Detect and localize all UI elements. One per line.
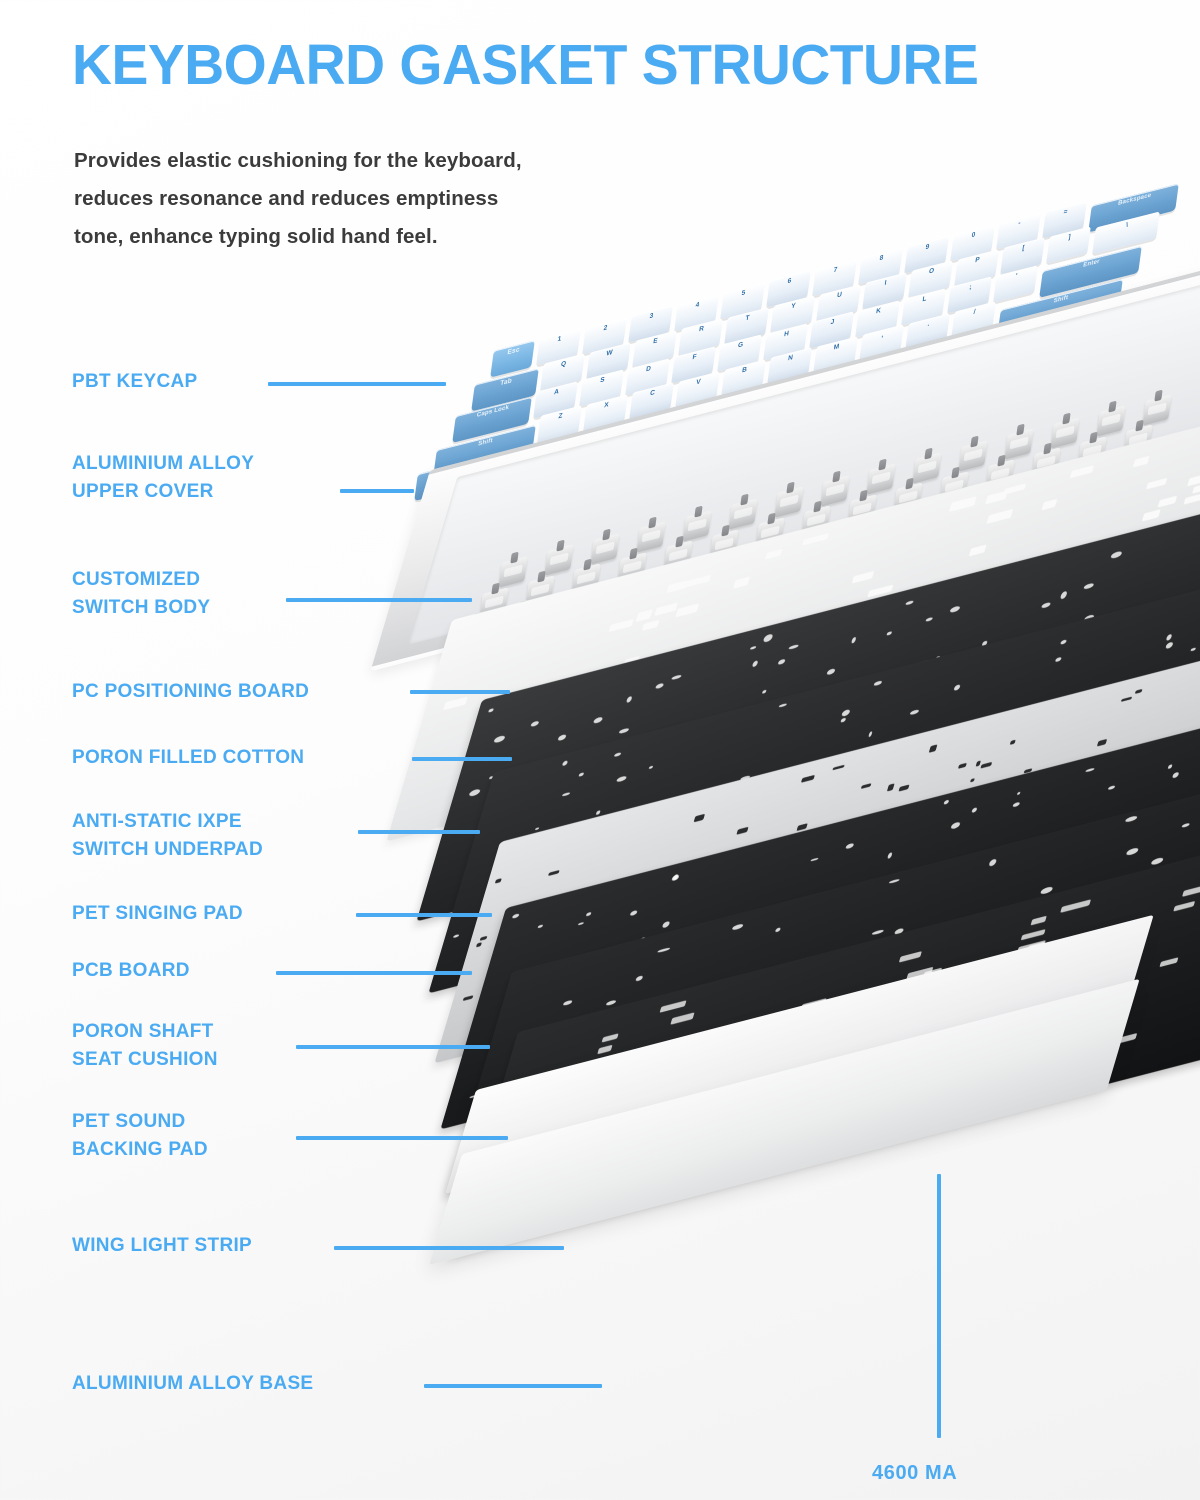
- callout-label-aluminium-alloy-upper-cover: ALUMINIUM ALLOY UPPER COVER: [72, 450, 254, 506]
- plate-cutout: [1143, 886, 1149, 892]
- plate-cutout: [685, 575, 712, 588]
- plate-cutout: [696, 819, 704, 828]
- switch-body: [744, 597, 773, 628]
- plate-cutout: [544, 942, 549, 949]
- plate-cutout: [530, 720, 539, 727]
- plate-cutout: [637, 917, 644, 922]
- keycap-1: 1: [536, 329, 581, 366]
- plate-cutout: [873, 681, 881, 687]
- plate-cutout: [1060, 639, 1068, 645]
- switch-body: [690, 559, 719, 590]
- plate-cutout: [1184, 933, 1191, 940]
- plate-cutout: [469, 788, 481, 797]
- plate-cutout: [906, 967, 934, 981]
- plate-cutout: [1137, 816, 1148, 823]
- leader-line-pet-sound-backing-pad: [296, 1136, 508, 1140]
- plate-cutout: [1192, 482, 1200, 493]
- keycap--: ,: [859, 325, 904, 362]
- keycap-z: Z: [537, 406, 582, 443]
- leader-line-pet-singing-pad: [356, 913, 492, 917]
- plate-cutout: [1168, 764, 1173, 769]
- plate-cutout: [786, 1049, 809, 1061]
- plate-cutout: [504, 949, 510, 954]
- keycap-win: Win: [472, 446, 528, 486]
- plate-cutout: [989, 858, 998, 866]
- plate-cutout: [851, 637, 857, 644]
- plate-cutout: [1188, 711, 1193, 718]
- plate-cutout: [766, 955, 774, 959]
- plate-cutout: [623, 1064, 636, 1072]
- switch-body: [893, 482, 922, 513]
- switch-body: [928, 551, 957, 582]
- plate-cutout: [597, 824, 602, 830]
- plate-cutout: [602, 813, 614, 821]
- keycap-n: N: [767, 348, 812, 385]
- keycap-esc: Esc: [490, 340, 535, 377]
- plate-cutout: [507, 832, 513, 837]
- plate-cutout: [954, 684, 961, 691]
- plate-cutout: [489, 708, 495, 712]
- plate-cutout: [852, 613, 870, 624]
- keycap-o: O: [908, 261, 953, 298]
- plate-cutout: [884, 786, 891, 793]
- plate-cutout: [534, 827, 539, 830]
- plate-cutout: [564, 906, 573, 912]
- plate-cutout: [1041, 499, 1058, 511]
- layer-customized-switch-body: [470, 500, 1200, 830]
- plate-cutout: [584, 1121, 603, 1131]
- battery-capacity-label: 4600 MA: [872, 1462, 957, 1485]
- plate-cutout: [740, 1005, 755, 1015]
- plate-cutout: [718, 818, 728, 825]
- plate-cutout: [982, 640, 988, 646]
- switch-body: [1050, 417, 1079, 448]
- plate-cutout: [1043, 919, 1056, 925]
- plate-cutout: [523, 972, 531, 978]
- plate-cutout: [1102, 1003, 1120, 1014]
- plate-cutout: [1102, 635, 1124, 648]
- plate-cutout: [1121, 696, 1133, 702]
- plate-cutout: [1079, 697, 1086, 704]
- callout-label-pet-sound-backing-pad: PET SOUND BACKING PAD: [72, 1108, 208, 1164]
- plate-cutout: [701, 791, 708, 796]
- keycap-tab: Tab: [471, 368, 539, 411]
- plate-cutout: [517, 990, 525, 997]
- switch-body: [1020, 527, 1049, 558]
- plate-cutout: [893, 746, 898, 753]
- plate-cutout: [731, 923, 744, 931]
- plate-cutout: [589, 1021, 596, 1025]
- keycap-w: W: [586, 342, 631, 379]
- switch-body: [958, 440, 987, 471]
- plate-cutout: [649, 947, 658, 954]
- keycap-3: 3: [628, 306, 673, 343]
- plate-cutout: [1096, 776, 1104, 783]
- plate-cutout: [1065, 992, 1081, 1001]
- plate-cutout: [1110, 551, 1122, 559]
- plate-cutout: [1149, 952, 1161, 960]
- plate-cutout: [622, 893, 631, 899]
- plate-cutout: [775, 1001, 785, 1008]
- plate-cutout: [927, 988, 932, 993]
- plate-cutout: [601, 1033, 619, 1043]
- switch-body: [912, 452, 941, 483]
- switch-body: [985, 459, 1014, 490]
- plate-cutout: [1054, 900, 1063, 906]
- plate-cutout: [1084, 614, 1095, 622]
- switch-body: [1085, 485, 1114, 516]
- switch-body: [774, 487, 803, 518]
- plate-cutout: [1159, 672, 1164, 676]
- keycap--: =: [1042, 201, 1087, 238]
- plate-cutout: [1013, 802, 1021, 808]
- keycap-8: 8: [858, 248, 903, 285]
- plate-cutout: [971, 807, 978, 813]
- plate-cutout: [1184, 492, 1200, 504]
- switch-body: [663, 540, 692, 571]
- plate-cutout: [610, 663, 636, 677]
- plate-cutout: [508, 974, 519, 981]
- switch-body: [1123, 424, 1152, 455]
- plate-cutout: [1039, 861, 1045, 868]
- plate-cutout: [491, 926, 497, 930]
- keycap-f: F: [671, 346, 716, 383]
- keycap-p: P: [954, 249, 999, 286]
- plate-cutout: [1006, 754, 1015, 760]
- plate-cutout: [443, 696, 468, 710]
- leader-line-poron-shaft-seat-cushion: [296, 1045, 490, 1049]
- plate-cutout: [748, 780, 754, 786]
- keycap-fn: Fn: [932, 330, 988, 370]
- switch-body: [506, 606, 535, 637]
- keycap--: [: [1000, 237, 1045, 274]
- keycap-c: C: [629, 383, 674, 420]
- plate-cutout: [578, 922, 584, 926]
- plate-cutout: [857, 683, 884, 698]
- plate-cutout: [567, 845, 572, 848]
- plate-cutout: [677, 718, 699, 731]
- switch-body: [682, 510, 711, 541]
- switch-body: [652, 620, 681, 651]
- keycap-alt: Alt: [874, 345, 930, 385]
- plate-cutout: [983, 688, 993, 694]
- keycap-backspace: Backspace: [1088, 184, 1179, 233]
- plate-cutout: [910, 709, 920, 716]
- plate-cutout: [755, 859, 764, 866]
- keycap-k: K: [855, 300, 900, 337]
- plate-cutout: [1016, 791, 1020, 795]
- plate-cutout: [558, 931, 564, 937]
- plate-cutout: [958, 763, 968, 770]
- plate-cutout: [1034, 707, 1046, 715]
- callout-label-customized-switch-body: CUSTOMIZED SWITCH BODY: [72, 566, 210, 622]
- plate-cutout: [825, 1033, 854, 1046]
- plate-cutout: [714, 882, 721, 887]
- leader-line-pc-positioning-board: [410, 690, 510, 694]
- leader-line-anti-static-ixpe-switch-underpad: [358, 830, 480, 834]
- plate-cutout: [499, 866, 506, 872]
- plate-cutout: [496, 1196, 524, 1208]
- plate-cutout: [718, 979, 728, 986]
- plate-cutout: [1174, 589, 1200, 601]
- plate-cutout: [1167, 885, 1178, 893]
- plate-cutout: [520, 987, 529, 992]
- plate-cutout: [651, 1126, 680, 1139]
- plate-cutout: [920, 951, 930, 957]
- keycap--: .: [905, 313, 950, 350]
- plate-cutout: [1149, 679, 1154, 685]
- plate-cutout: [1189, 818, 1200, 824]
- plate-cutout: [719, 928, 725, 934]
- callout-label-pcb-board: PCB BOARD: [72, 957, 190, 985]
- plate-cutout: [1132, 456, 1149, 468]
- plate-cutout: [1024, 768, 1032, 773]
- callout-label-anti-static-ixpe-switch-underpad: ANTI-STATIC IXPE SWITCH UNDERPAD: [72, 808, 263, 864]
- plate-cutout: [494, 1046, 503, 1054]
- switch-body: [717, 578, 746, 609]
- plate-cutout: [1067, 600, 1084, 610]
- keycap-y: Y: [770, 295, 815, 332]
- switch-body: [671, 590, 700, 621]
- plate-cutout: [1029, 1018, 1055, 1030]
- keycap-x: X: [583, 394, 628, 431]
- plate-cutout: [1003, 720, 1011, 728]
- plate-cutout: [576, 1104, 589, 1113]
- plate-cutout: [963, 925, 973, 933]
- plate-cutout: [792, 997, 800, 1002]
- plate-cutout: [1141, 693, 1149, 700]
- plate-cutout: [657, 1108, 669, 1115]
- plate-cutout: [546, 845, 552, 848]
- plate-cutout: [636, 609, 653, 622]
- plate-cutout: [1003, 483, 1027, 495]
- plate-cutout: [985, 491, 1008, 505]
- layer-aluminium-alloy-base: [476, 1090, 1176, 1350]
- plate-cutout: [908, 752, 915, 760]
- plate-cutout: [740, 963, 749, 969]
- plate-cutout: [593, 894, 598, 897]
- plate-cutout: [1093, 779, 1105, 786]
- callout-label-pc-positioning-board: PC POSITIONING BOARD: [72, 678, 309, 706]
- keycap-j: J: [809, 311, 854, 348]
- plate-cutout: [479, 936, 487, 942]
- plate-cutout: [1092, 717, 1100, 724]
- keycap-g: G: [717, 335, 762, 372]
- plate-cutout: [1055, 657, 1062, 663]
- plate-cutout: [925, 617, 933, 622]
- plate-cutout: [623, 655, 639, 666]
- keycap-b: B: [721, 359, 766, 396]
- plate-cutout: [774, 927, 781, 933]
- switch-body: [901, 532, 930, 563]
- plate-cutout: [1111, 542, 1130, 555]
- plate-cutout: [986, 570, 1006, 582]
- plate-cutout: [1193, 605, 1200, 619]
- plate-cutout: [558, 734, 567, 741]
- plate-cutout: [1042, 866, 1050, 872]
- plate-cutout: [833, 764, 845, 770]
- plate-cutout: [493, 735, 505, 743]
- plate-cutout: [1106, 689, 1117, 698]
- plate-cutout: [1041, 602, 1051, 609]
- plate-cutout: [609, 619, 634, 632]
- plate-cutout: [562, 760, 569, 766]
- plate-cutout: [1018, 923, 1027, 930]
- callout-label-poron-filled-cotton: PORON FILLED COTTON: [72, 744, 304, 772]
- plate-cutout: [538, 924, 544, 928]
- plate-cutout: [943, 660, 962, 672]
- leader-line-aluminium-alloy-upper-cover: [340, 489, 414, 493]
- switch-body: [736, 548, 765, 579]
- plate-cutout: [642, 841, 646, 846]
- leader-line-customized-switch-body: [286, 598, 472, 602]
- plate-cutout: [549, 1185, 579, 1197]
- plate-cutout: [779, 703, 787, 707]
- plate-cutout: [561, 1006, 570, 1014]
- plate-cutout: [898, 784, 909, 791]
- plate-cutout: [767, 1009, 774, 1013]
- plate-cutout: [506, 763, 526, 776]
- switch-body: [728, 498, 757, 529]
- plate-cutout: [721, 866, 729, 874]
- plate-cutout: [999, 962, 1019, 972]
- plate-cutout: [512, 920, 525, 927]
- plate-cutout: [596, 810, 601, 815]
- plate-cutout: [1107, 805, 1114, 811]
- page-subtitle: Provides elastic cushioning for the keyb…: [74, 142, 544, 256]
- plate-cutout: [1161, 678, 1169, 687]
- plate-cutout: [661, 921, 670, 929]
- plate-cutout: [770, 1115, 801, 1129]
- keycap-v: V: [675, 371, 720, 408]
- plate-cutout: [712, 1029, 720, 1035]
- leader-line-poron-filled-cotton: [412, 757, 512, 761]
- plate-cutout: [783, 982, 791, 989]
- plate-cutout: [757, 1043, 787, 1055]
- plate-cutout: [1186, 617, 1196, 624]
- plate-cutout: [843, 990, 851, 997]
- plate-cutout: [797, 1077, 808, 1085]
- plate-cutout: [668, 1048, 674, 1052]
- leader-line-aluminium-alloy-base: [424, 1384, 602, 1388]
- plate-cutout: [887, 784, 895, 792]
- plate-cutout: [940, 692, 950, 701]
- plate-cutout: [1167, 770, 1172, 775]
- plate-cutout: [896, 781, 906, 787]
- plate-cutout: [597, 1045, 612, 1055]
- plate-cutout: [1109, 1033, 1137, 1046]
- plate-cutout: [667, 709, 690, 720]
- plate-cutout: [630, 910, 638, 917]
- plate-cutout: [799, 747, 808, 755]
- plate-cutout: [929, 745, 937, 753]
- callout-label-pet-singing-pad: PET SINGING PAD: [72, 900, 243, 928]
- plate-cutout: [763, 633, 774, 642]
- plate-cutout: [1108, 924, 1116, 930]
- switch-body: [782, 536, 811, 567]
- switch-body: [855, 543, 884, 574]
- plate-cutout: [903, 1071, 930, 1083]
- plate-cutout: [1044, 748, 1052, 753]
- plate-cutout: [740, 791, 748, 798]
- plate-cutout: [894, 927, 905, 935]
- switch-body: [533, 625, 562, 656]
- plate-cutout: [971, 897, 978, 903]
- plate-cutout: [931, 976, 936, 980]
- plate-cutout: [471, 764, 490, 777]
- plate-cutout: [872, 984, 878, 991]
- plate-cutout: [881, 1031, 907, 1043]
- plate-cutout: [1128, 788, 1137, 794]
- plate-cutout: [521, 1090, 537, 1099]
- plate-cutout: [463, 995, 473, 1001]
- plate-cutout: [476, 942, 482, 947]
- keycap-space: Space: [587, 388, 873, 486]
- plate-cutout: [664, 967, 676, 975]
- plate-cutout: [1103, 701, 1112, 708]
- plate-cutout: [1166, 634, 1172, 641]
- plate-cutout: [495, 878, 501, 883]
- plate-cutout: [1158, 708, 1165, 713]
- keycap-m: M: [813, 336, 858, 373]
- switch-body: [1031, 448, 1060, 479]
- plate-cutout: [647, 993, 656, 997]
- plate-cutout: [1109, 799, 1116, 804]
- plate-cutout: [1091, 792, 1101, 798]
- plate-cutout: [693, 813, 705, 822]
- plate-cutout: [1126, 847, 1139, 856]
- keycap--: ]: [1046, 226, 1091, 263]
- plate-cutout: [1024, 987, 1036, 993]
- plate-cutout: [622, 1037, 629, 1043]
- switch-body: [847, 494, 876, 525]
- switch-body: [525, 575, 554, 606]
- plate-cutout: [1150, 856, 1164, 865]
- plate-cutout: [727, 885, 732, 890]
- switch-body: [1077, 436, 1106, 467]
- plate-cutout: [1095, 940, 1104, 947]
- plate-cutout: [692, 1046, 705, 1054]
- switch-body: [1066, 516, 1095, 547]
- plate-cutout: [1160, 958, 1179, 968]
- keycap-l: L: [901, 288, 946, 325]
- plate-cutout: [523, 851, 530, 856]
- plate-cutout: [743, 1106, 764, 1116]
- upper-cover-window: [408, 247, 1200, 645]
- switch-body: [882, 562, 911, 593]
- plate-cutout: [949, 496, 976, 511]
- plate-cutout: [1049, 1062, 1077, 1075]
- plate-cutout: [657, 947, 670, 953]
- keycap-ctrl: Ctrl: [414, 461, 470, 501]
- plate-cutout: [895, 954, 908, 962]
- plate-cutout: [740, 775, 750, 781]
- plate-cutout: [1083, 582, 1094, 589]
- keycap--: ': [993, 265, 1038, 302]
- switch-body: [617, 552, 646, 583]
- plate-cutout: [789, 738, 801, 747]
- plate-cutout: [957, 755, 963, 762]
- battery-leader-line: [937, 1174, 941, 1438]
- plate-cutout: [764, 549, 782, 560]
- plate-cutout: [1097, 983, 1110, 992]
- keycap-alt: Alt: [529, 432, 585, 472]
- plate-cutout: [1129, 846, 1134, 852]
- plate-cutout: [512, 913, 520, 919]
- plate-cutout: [1027, 942, 1044, 952]
- plate-cutout: [1040, 886, 1053, 895]
- callout-label-pbt-keycap: PBT KEYCAP: [72, 368, 197, 396]
